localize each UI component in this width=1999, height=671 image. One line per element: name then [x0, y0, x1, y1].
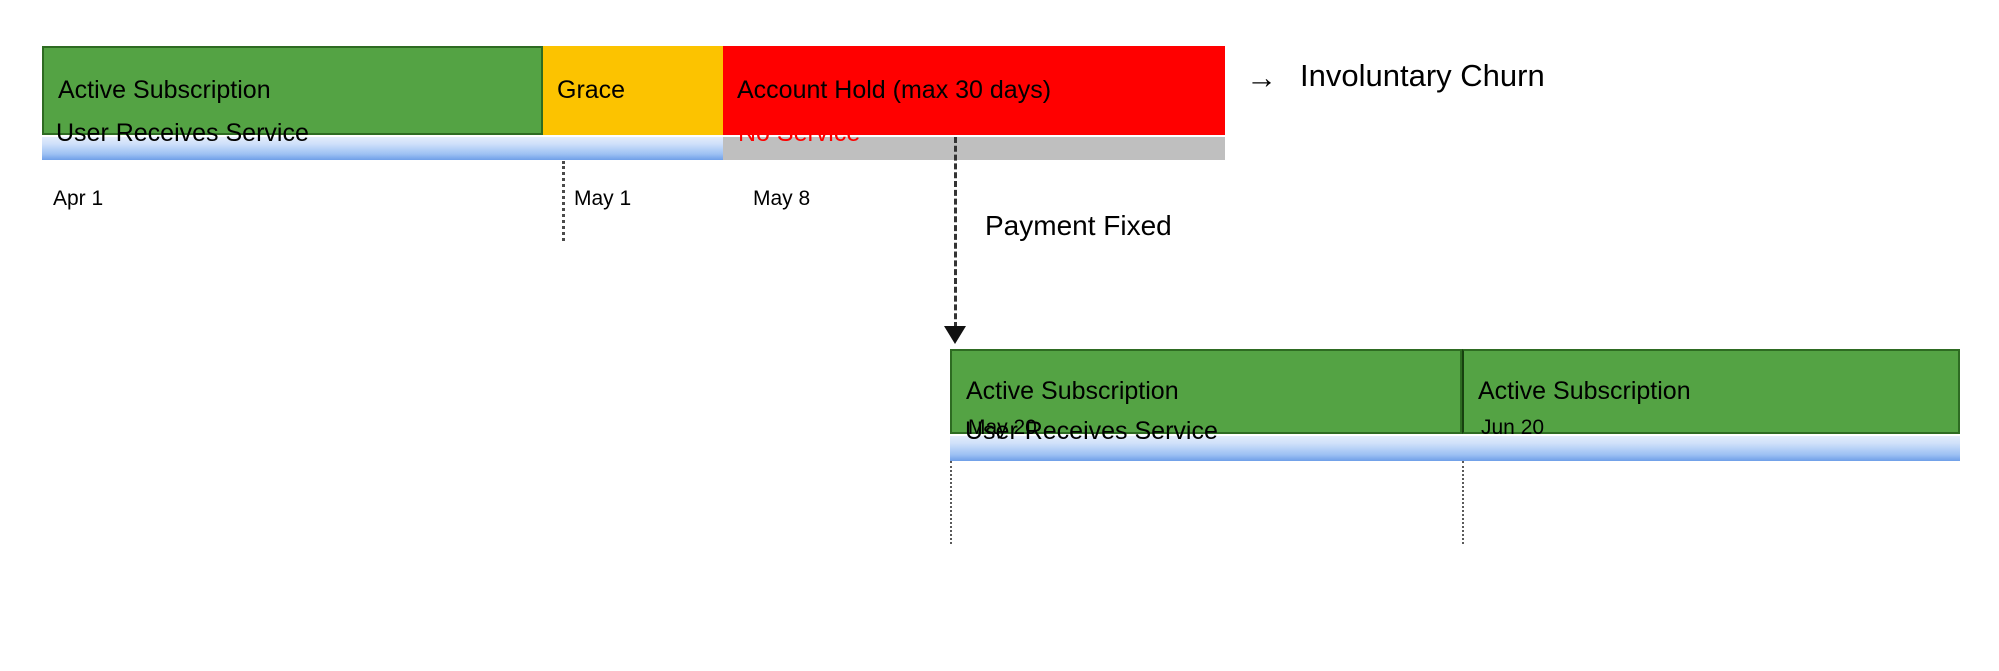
bottom-status-segment-active-subscription-1-label: Active Subscription — [952, 379, 1179, 404]
top-date-tick-may-8: May 8 — [753, 188, 810, 209]
payment-fixed-label: Payment Fixed — [985, 212, 1172, 240]
bottom-date-tick-jun-20: Jun 20 — [1481, 417, 1544, 438]
payment-fixed-arrow-head-icon — [944, 326, 966, 344]
subscription-lifecycle-diagram: Active Subscription Grace Account Hold (… — [0, 0, 1999, 671]
top-status-segment-grace-label: Grace — [543, 78, 625, 103]
top-status-segment-account-hold-label: Account Hold (max 30 days) — [723, 78, 1051, 103]
top-status-segment-active-subscription-label: Active Subscription — [44, 78, 271, 103]
involuntary-churn-arrow-icon: → — [1246, 62, 1277, 93]
top-date-tick-apr-1: Apr 1 — [53, 188, 103, 209]
involuntary-churn-label: Involuntary Churn — [1300, 60, 1545, 91]
top-status-segment-grace: Grace — [543, 46, 723, 135]
top-service-segment-no-service-label: No Service — [738, 121, 860, 146]
top-tick-guide-may-1 — [562, 161, 565, 241]
bottom-status-segment-active-subscription-2-label: Active Subscription — [1464, 379, 1691, 404]
top-date-tick-may-1: May 1 — [574, 188, 631, 209]
payment-fixed-arrow-shaft — [954, 137, 957, 328]
top-service-segment-user-receives-service-label: User Receives Service — [56, 121, 309, 146]
bottom-date-tick-may-20: May 20 — [968, 417, 1037, 438]
bottom-tick-guide-may-20 — [950, 461, 952, 544]
bottom-tick-guide-jun-20 — [1462, 461, 1464, 544]
